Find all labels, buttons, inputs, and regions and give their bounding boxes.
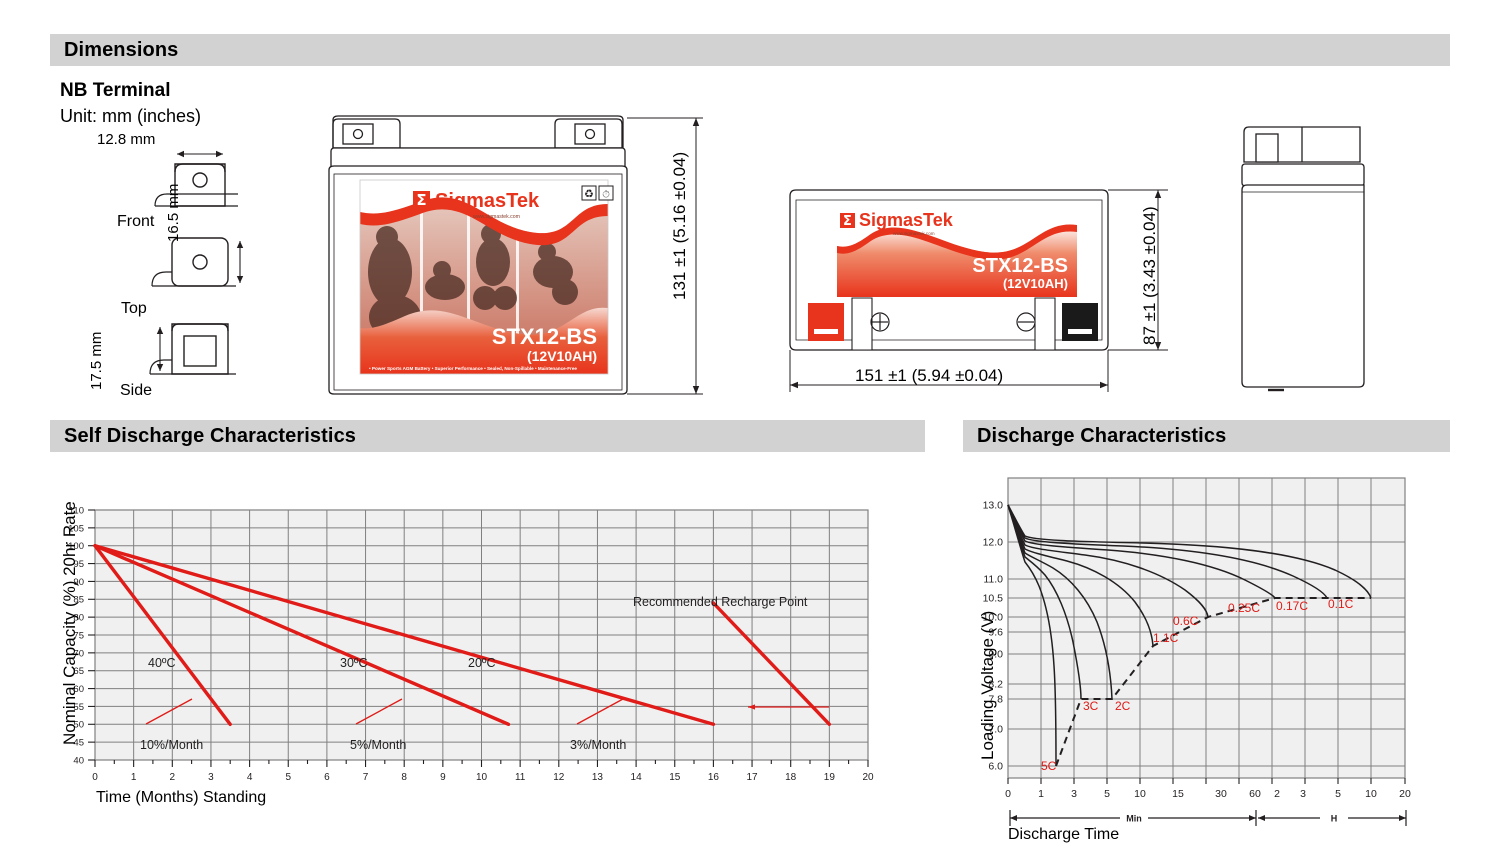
self-discharge-title: Self Discharge Characteristics [64, 425, 356, 448]
svg-text:♻: ♻ [584, 188, 594, 201]
svg-text:Σ: Σ [416, 191, 426, 209]
xtick-h3: 3 [1300, 788, 1306, 800]
xtick-5: 5 [1104, 788, 1110, 800]
ytick-13: 13.0 [983, 500, 1004, 512]
svg-text:⏱: ⏱ [602, 190, 610, 201]
terminal-side-label: Side [120, 382, 152, 400]
xtick-h10: 10 [1365, 788, 1377, 800]
svg-text:6: 6 [324, 772, 330, 783]
svg-text:4: 4 [247, 772, 253, 783]
xtick-60: 60 [1249, 788, 1261, 800]
svg-text:20: 20 [862, 772, 874, 783]
xtick-30: 30 [1215, 788, 1227, 800]
discharge-chart: 13.0 12.0 11.0 10.5 10.0 9.6 9.0 8.2 7.8… [963, 470, 1443, 800]
crate-0.25C: 0.25C [1228, 601, 1260, 615]
svg-text:2: 2 [170, 772, 176, 783]
discharge-ylabel: Loading Voltage (V) [978, 611, 998, 760]
svg-text:12: 12 [553, 772, 565, 783]
crate-3C: 3C [1083, 699, 1099, 713]
svg-text:10: 10 [476, 772, 488, 783]
svg-text:16: 16 [708, 772, 720, 783]
recycle-icon: ♻ [582, 186, 596, 201]
svg-text:1: 1 [131, 772, 137, 783]
svg-text:14: 14 [631, 772, 643, 783]
battery-front-view: Σ SigmasTek www.sigmastek.com ♻ ⏱ STX12-… [325, 112, 705, 402]
svg-text:11: 11 [515, 772, 526, 783]
xtick-15: 15 [1172, 788, 1184, 800]
battery-tagline: • Power Sports AGM Battery • Superior Pe… [369, 366, 577, 371]
annotation-20C: 20ºC [468, 656, 496, 670]
discharge-xlabel: Discharge Time [1008, 826, 1119, 844]
dimensions-section-header: Dimensions [50, 34, 1450, 66]
brand-name: SigmasTek [435, 190, 540, 212]
svg-text:3: 3 [208, 772, 214, 783]
unit-label: Unit: mm (inches) [60, 106, 201, 127]
nb-terminal-title: NB Terminal [60, 80, 171, 102]
side-battery-model: STX12-BS [972, 255, 1068, 277]
xtick-10: 10 [1134, 788, 1146, 800]
xtick-h2: 2 [1274, 788, 1280, 800]
side-brand-website: www.sigmastek.com [893, 231, 935, 236]
annotation-10pct: 10%/Month [140, 738, 203, 752]
crossed-wheelie-bin-icon: ⏱ [599, 186, 613, 201]
crate-0.1C: 0.1C [1328, 597, 1354, 611]
svg-text:7: 7 [363, 772, 369, 783]
terminal-front-label: Front [117, 213, 154, 231]
svg-text:17: 17 [746, 772, 758, 783]
annotation-5pct: 5%/Month [350, 738, 406, 752]
xtick-3: 3 [1071, 788, 1077, 800]
side-brand-name: SigmasTek [859, 210, 954, 230]
discharge-section-header: Discharge Characteristics [963, 420, 1450, 452]
crate-1.1C: 1.1C [1153, 631, 1179, 645]
ytick-105: 10.5 [983, 593, 1004, 605]
svg-text:9: 9 [440, 772, 446, 783]
battery-length-label: 151 ±1 (5.94 ±0.04) [855, 366, 1003, 386]
terminal-side-height-label: 17.5 mm [88, 332, 105, 390]
terminal-negative [1062, 303, 1098, 341]
svg-text:13: 13 [592, 772, 604, 783]
brand-website: www.sigmastek.com [473, 214, 520, 220]
self-discharge-xlabel: Time (Months) Standing [96, 789, 266, 807]
crate-2C: 2C [1115, 699, 1131, 713]
battery-model: STX12-BS [492, 324, 597, 349]
terminal-positive [808, 303, 844, 341]
battery-side-view: Σ SigmasTek www.sigmastek.com STX12-BS (… [780, 180, 1170, 395]
xtick-h20: 20 [1399, 788, 1411, 800]
battery-width-label: 87 ±1 (3.43 ±0.04) [1140, 206, 1160, 345]
dimensions-title: Dimensions [64, 39, 178, 62]
annotation-30C: 30ºC [340, 656, 368, 670]
terminal-width-label: 12.8 mm [97, 131, 155, 148]
annotation-40C: 40ºC [148, 656, 176, 670]
axis-segment-min: Min [1126, 814, 1142, 824]
crate-0.17C: 0.17C [1276, 599, 1308, 613]
svg-text:5: 5 [285, 772, 291, 783]
crate-0.6C: 0.6C [1173, 614, 1199, 628]
side-battery-capacity: (12V10AH) [1003, 276, 1068, 291]
terminal-top-height-label: 16.5 mm [165, 184, 182, 242]
svg-text:18: 18 [785, 772, 797, 783]
self-discharge-chart: 110105100 959085 807570 656055 504540 [50, 495, 880, 815]
svg-text:15: 15 [669, 772, 681, 783]
self-discharge-section-header: Self Discharge Characteristics [50, 420, 925, 452]
height-dimension-line [627, 118, 703, 394]
xtick-h5: 5 [1335, 788, 1341, 800]
svg-text:Σ: Σ [843, 214, 852, 229]
battery-height-label: 131 ±1 (5.16 ±0.04) [670, 152, 690, 300]
svg-text:40: 40 [73, 756, 84, 767]
annotation-3pct: 3%/Month [570, 738, 626, 752]
battery-profile-view [1238, 120, 1368, 396]
brand-logo-mark: Σ [413, 191, 430, 209]
ytick-60: 6.0 [988, 761, 1003, 773]
self-discharge-ylabel: Nominal Capacity (%) 20hr Rate [60, 501, 80, 745]
annotation-recharge-point: Recommended Recharge Point [633, 595, 808, 609]
polarity-positive-icon [871, 313, 889, 331]
xtick-1: 1 [1038, 788, 1044, 800]
crate-5C: 5C [1041, 759, 1057, 773]
battery-capacity: (12V10AH) [527, 348, 597, 364]
svg-text:19: 19 [824, 772, 836, 783]
discharge-title: Discharge Characteristics [977, 425, 1226, 448]
terminal-top-label: Top [121, 300, 147, 318]
svg-text:8: 8 [401, 772, 407, 783]
axis-segment-hour: H [1331, 814, 1338, 824]
ytick-11: 11.0 [983, 574, 1003, 586]
side-brand-logo-mark: Σ [840, 213, 855, 229]
svg-text:0: 0 [92, 772, 98, 783]
ytick-12: 12.0 [983, 537, 1004, 549]
xtick-0: 0 [1005, 788, 1011, 800]
